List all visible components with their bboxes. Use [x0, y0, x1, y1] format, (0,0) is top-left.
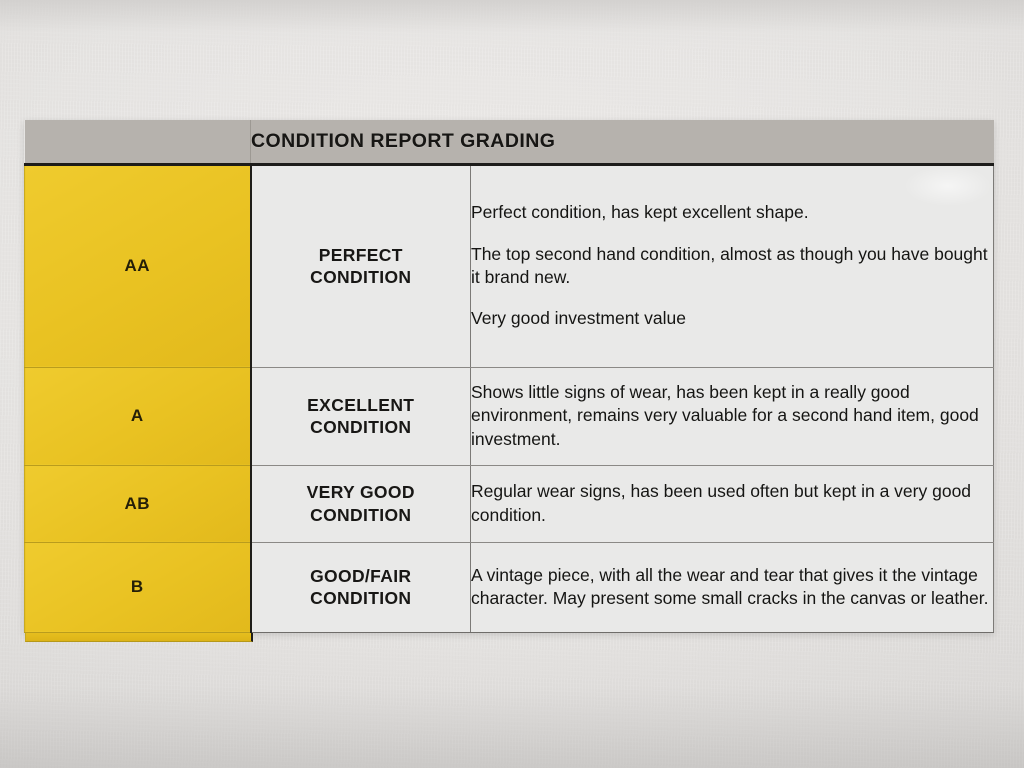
header-blank-cell [25, 120, 251, 164]
table-row: AA PERFECT CONDITION Perfect condition, … [25, 164, 994, 367]
grade-name-aa: PERFECT CONDITION [251, 164, 471, 367]
description-paragraph: Shows little signs of wear, has been kep… [471, 381, 993, 451]
grade-name-line-2: CONDITION [310, 588, 411, 608]
grade-badge-aa: AA [25, 164, 251, 367]
grade-badge-b: B [25, 542, 251, 632]
condition-report-grading-table: CONDITION REPORT GRADING AA PERFECT COND… [24, 120, 994, 633]
grade-column-overhang [25, 633, 253, 642]
grade-badge-ab: AB [25, 465, 251, 542]
grade-name-ab: VERY GOOD CONDITION [251, 465, 471, 542]
grade-name-line-1: GOOD/FAIR [310, 566, 411, 586]
grade-name-line-2: CONDITION [310, 417, 411, 437]
grade-description-aa: Perfect condition, has kept excellent sh… [471, 164, 994, 367]
page-title: CONDITION REPORT GRADING [251, 120, 994, 164]
description-paragraph: Very good investment value [471, 307, 993, 330]
table-row: B GOOD/FAIR CONDITION A vintage piece, w… [25, 542, 994, 632]
table-row: AB VERY GOOD CONDITION Regular wear sign… [25, 465, 994, 542]
grade-name-b: GOOD/FAIR CONDITION [251, 542, 471, 632]
description-paragraph: Perfect condition, has kept excellent sh… [471, 201, 993, 224]
grade-name-line-1: EXCELLENT [307, 395, 414, 415]
table-row: A EXCELLENT CONDITION Shows little signs… [25, 367, 994, 465]
description-paragraph: A vintage piece, with all the wear and t… [471, 564, 993, 611]
table-body: AA PERFECT CONDITION Perfect condition, … [25, 164, 994, 632]
description-paragraph: Regular wear signs, has been used often … [471, 480, 993, 527]
grade-name-line-1: PERFECT [319, 245, 403, 265]
grade-name-a: EXCELLENT CONDITION [251, 367, 471, 465]
grade-name-line-2: CONDITION [310, 505, 411, 525]
grade-description-b: A vintage piece, with all the wear and t… [471, 542, 994, 632]
description-paragraph: The top second hand condition, almost as… [471, 243, 993, 290]
grade-badge-a: A [25, 367, 251, 465]
grade-name-line-1: VERY GOOD [307, 482, 415, 502]
grade-description-a: Shows little signs of wear, has been kep… [471, 367, 994, 465]
grade-description-ab: Regular wear signs, has been used often … [471, 465, 994, 542]
grade-name-line-2: CONDITION [310, 267, 411, 287]
table-header-row: CONDITION REPORT GRADING [25, 120, 994, 164]
